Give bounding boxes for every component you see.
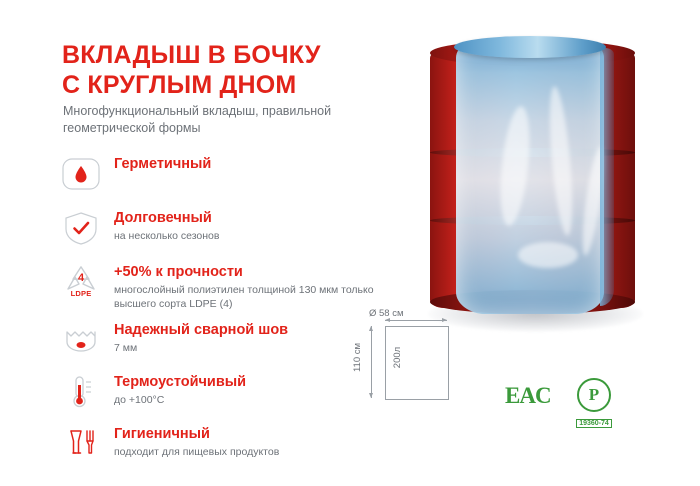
feature-title: Гигиеничный xyxy=(114,425,402,443)
feature-desc: на несколько сезонов xyxy=(114,229,402,243)
gost-code: 19360-74 xyxy=(576,419,612,428)
gost-circle-icon: P xyxy=(577,378,611,412)
droplet-icon xyxy=(62,155,100,193)
feature-body: Герметичный xyxy=(114,155,402,173)
liner-fold xyxy=(545,86,576,237)
feature-item-sealed: Герметичный xyxy=(62,155,402,195)
page-title-line1: ВКЛАДЫШ В БОЧКУ xyxy=(62,40,422,70)
page-title-line2: С КРУГЛЫМ ДНОМ xyxy=(62,70,422,100)
feature-list: Герметичный Долговечный на несколько сез… xyxy=(62,155,402,467)
liner-fold xyxy=(518,242,578,268)
liner-edge xyxy=(600,48,614,306)
liner-fold xyxy=(496,105,534,227)
feature-item-durable: Долговечный на несколько сезонов xyxy=(62,209,402,253)
dimension-diagram: Ø 58 см 110 см 200л xyxy=(357,300,477,410)
recycle-ldpe-icon: 4 LDPE xyxy=(62,263,100,301)
feature-item-strength: 4 LDPE +50% к прочности многослойный пол… xyxy=(62,263,402,313)
feature-body: Долговечный на несколько сезонов xyxy=(114,209,402,243)
gost-letter: P xyxy=(589,385,599,405)
page-title: ВКЛАДЫШ В БОЧКУ С КРУГЛЫМ ДНОМ xyxy=(62,40,422,100)
eac-mark: EAC xyxy=(505,383,551,409)
height-label: 110 см xyxy=(352,343,363,372)
feature-title: Долговечный xyxy=(114,209,402,227)
poster-page: ВКЛАДЫШ В БОЧКУ С КРУГЛЫМ ДНОМ Многофунк… xyxy=(0,0,700,486)
feature-title: +50% к прочности xyxy=(114,263,402,281)
feature-title: Герметичный xyxy=(114,155,402,173)
feature-item-weld: Надежный сварной шов 7 мм xyxy=(62,321,402,363)
thermometer-icon xyxy=(62,373,100,411)
red-drum xyxy=(430,40,635,315)
height-arrow xyxy=(371,326,372,398)
liner-top-rim xyxy=(454,36,606,58)
ldpe-label: LDPE xyxy=(62,289,100,298)
feature-item-hygienic: Гигиеничный подходит для пищевых продукт… xyxy=(62,425,402,467)
feature-desc: подходит для пищевых продуктов xyxy=(114,445,402,459)
shield-check-icon xyxy=(62,209,100,247)
food-safe-glass-fork-icon xyxy=(62,425,100,463)
feature-body: Гигиеничный подходит для пищевых продукт… xyxy=(114,425,402,459)
gost-mark: P 19360-74 xyxy=(568,378,620,424)
blue-liner-bag xyxy=(456,46,604,314)
ldpe-number: 4 xyxy=(62,263,100,291)
page-subtitle: Многофункциональный вкладыш, правильной … xyxy=(63,103,383,137)
feature-item-heat: Термоустойчивый до +100°C xyxy=(62,373,402,415)
volume-label: 200л xyxy=(392,347,403,368)
weld-seam-icon xyxy=(62,321,100,359)
drum-with-blue-liner-photo xyxy=(400,18,690,348)
diameter-arrow xyxy=(385,320,447,321)
